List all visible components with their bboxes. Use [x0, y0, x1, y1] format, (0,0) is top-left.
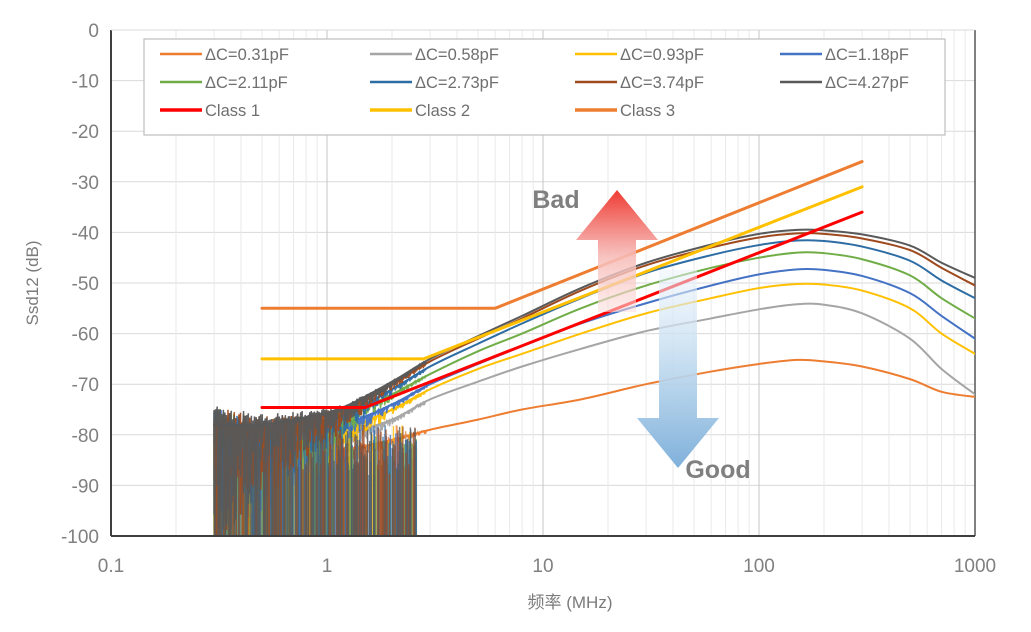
y-tick-label: -90 — [72, 476, 99, 497]
legend-label: ΔC=4.27pF — [825, 74, 909, 92]
x-axis-tick-labels: 0.11101001000 — [98, 556, 996, 577]
annotation-label-bad: Bad — [532, 186, 579, 214]
y-tick-label: -60 — [72, 325, 99, 346]
y-tick-label: -20 — [72, 122, 99, 143]
x-tick-label: 0.1 — [98, 556, 124, 577]
y-tick-label: -50 — [72, 274, 99, 295]
chart-canvas: 0-10-20-30-40-50-60-70-80-90-100 0.11101… — [0, 0, 1031, 632]
y-tick-label: -10 — [72, 72, 99, 93]
legend-label: ΔC=0.58pF — [415, 46, 499, 64]
legend-label: ΔC=2.11pF — [205, 74, 288, 92]
legend: ΔC=0.31pFΔC=0.58pFΔC=0.93pFΔC=1.18pFΔC=2… — [144, 39, 945, 135]
x-tick-label: 100 — [743, 556, 775, 577]
x-axis-title: 频率 (MHz) — [528, 593, 613, 612]
legend-label: ΔC=1.18pF — [825, 46, 909, 64]
y-tick-label: -70 — [72, 375, 99, 396]
legend-label: ΔC=0.93pF — [620, 46, 704, 64]
y-tick-label: -100 — [61, 527, 99, 548]
x-tick-label: 1 — [322, 556, 333, 577]
y-axis-title: Ssd12 (dB) — [23, 240, 42, 325]
chart-figure: 0-10-20-30-40-50-60-70-80-90-100 0.11101… — [0, 0, 1031, 632]
legend-label: ΔC=2.73pF — [415, 74, 499, 92]
x-tick-label: 10 — [532, 556, 553, 577]
legend-label: ΔC=0.31pF — [205, 46, 289, 64]
y-tick-label: -80 — [72, 426, 99, 447]
y-tick-label: -40 — [72, 223, 99, 244]
y-tick-label: 0 — [88, 21, 99, 42]
legend-label: Class 3 — [620, 102, 675, 120]
legend-label: Class 2 — [415, 102, 470, 120]
x-tick-label: 1000 — [954, 556, 996, 577]
legend-label: Class 1 — [205, 102, 260, 120]
legend-label: ΔC=3.74pF — [620, 74, 704, 92]
y-axis-tick-labels: 0-10-20-30-40-50-60-70-80-90-100 — [61, 21, 99, 548]
y-tick-label: -30 — [72, 173, 99, 194]
annotation-label-good: Good — [685, 456, 750, 484]
